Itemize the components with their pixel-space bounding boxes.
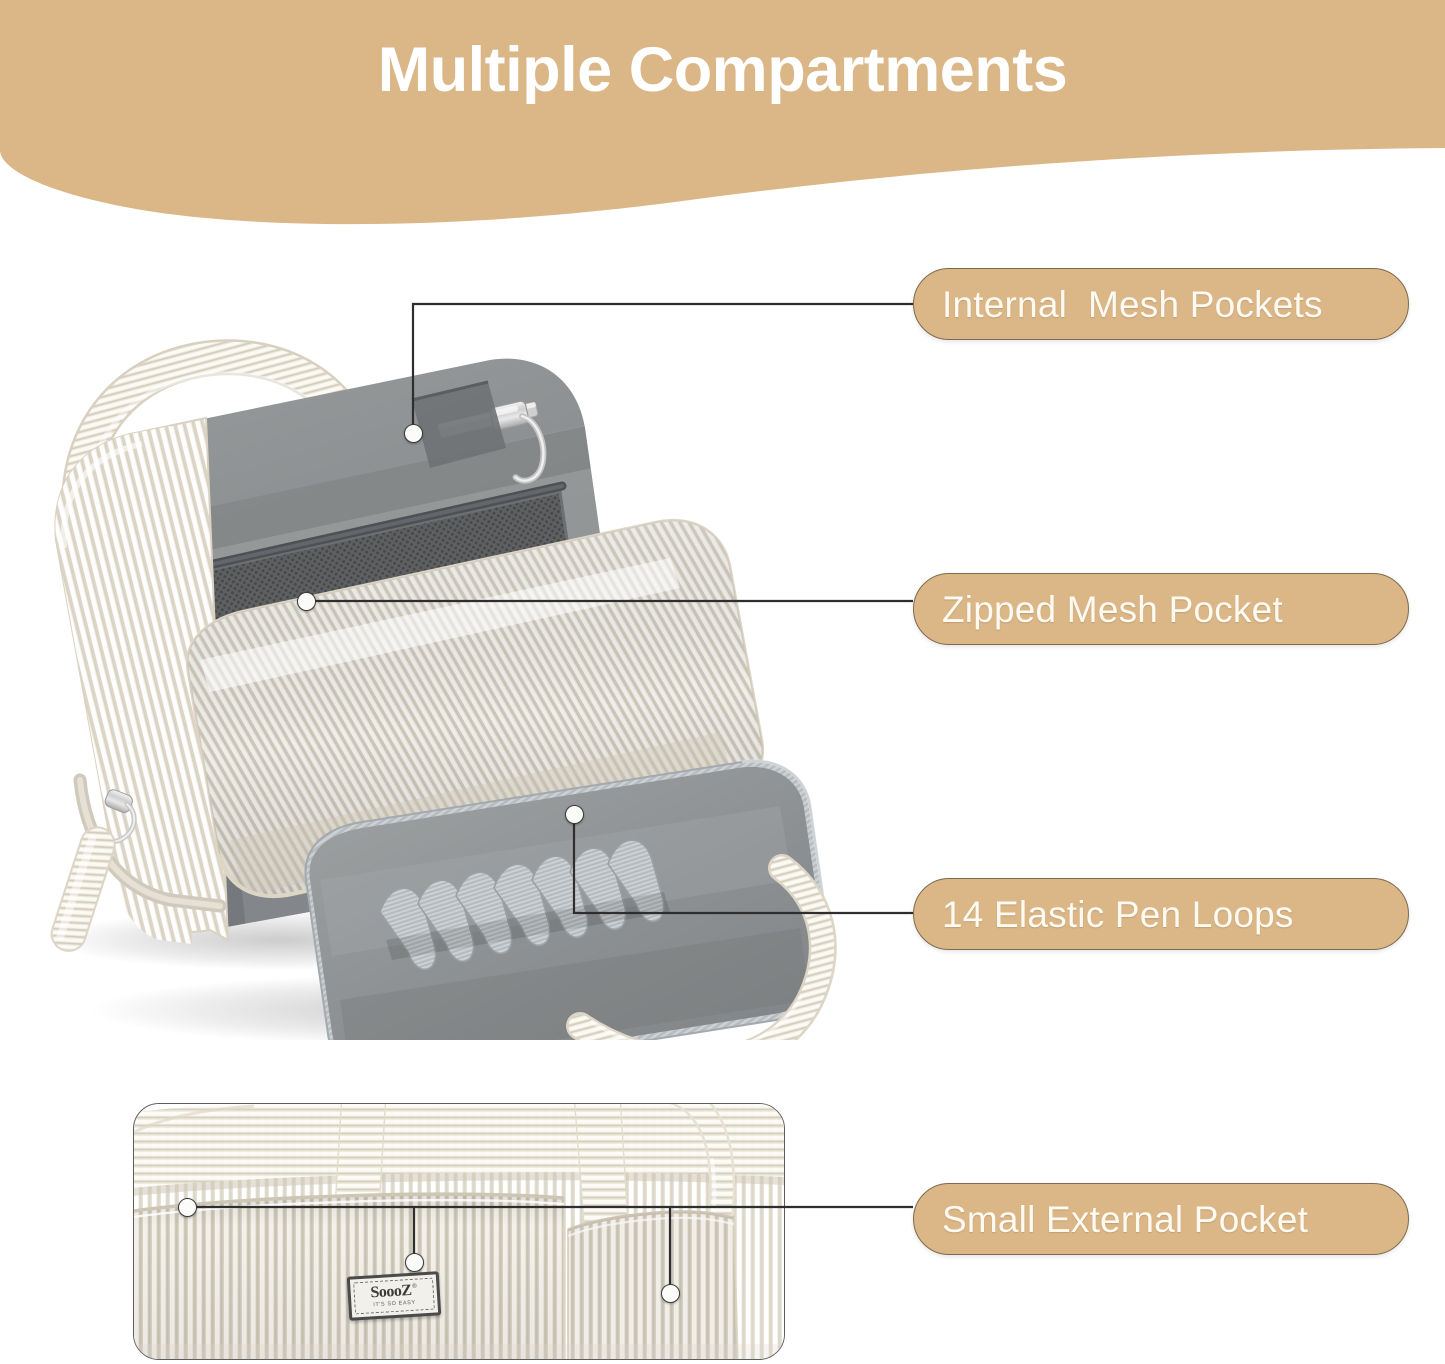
callout-label-elastic-pen-loops: 14 Elastic Pen Loops	[942, 896, 1294, 933]
callout-badge-zipped-mesh-pocket[interactable]: Zipped Mesh Pocket	[913, 573, 1409, 645]
brand-registered-mark: ®	[412, 1284, 417, 1290]
callout-badge-small-external-pocket[interactable]: Small External Pocket	[913, 1183, 1409, 1255]
infographic-page: Multiple Compartments	[0, 0, 1445, 1364]
callout-label-zipped-mesh-pocket: Zipped Mesh Pocket	[942, 591, 1283, 628]
side-pocket-right	[568, 1212, 738, 1360]
callout-dot-small-external-pocket[interactable]	[178, 1198, 197, 1217]
brand-tagline: IT'S SO EASY	[373, 1301, 416, 1309]
callout-dot-external-pocket-2[interactable]	[405, 1253, 424, 1272]
callout-label-internal-mesh-pockets: Internal Mesh Pockets	[942, 286, 1323, 323]
brand-tag: SoooZ ® IT'S SO EASY	[347, 1271, 442, 1321]
callout-dot-internal-mesh-pockets[interactable]	[404, 424, 423, 443]
callout-badge-internal-mesh-pockets[interactable]: Internal Mesh Pockets	[913, 268, 1409, 340]
callout-dot-elastic-pen-loops[interactable]	[565, 805, 584, 824]
callout-dot-zipped-mesh-pocket[interactable]	[297, 592, 316, 611]
product-photo-closed-case: SoooZ ® IT'S SO EASY	[133, 1103, 785, 1360]
callout-label-small-external-pocket: Small External Pocket	[942, 1201, 1308, 1238]
callout-badge-elastic-pen-loops[interactable]: 14 Elastic Pen Loops	[913, 878, 1409, 950]
product-photo-open-case	[20, 240, 910, 1040]
callout-dot-external-pocket-3[interactable]	[661, 1284, 680, 1303]
page-title: Multiple Compartments	[0, 36, 1445, 105]
brand-name: SoooZ	[370, 1283, 412, 1301]
